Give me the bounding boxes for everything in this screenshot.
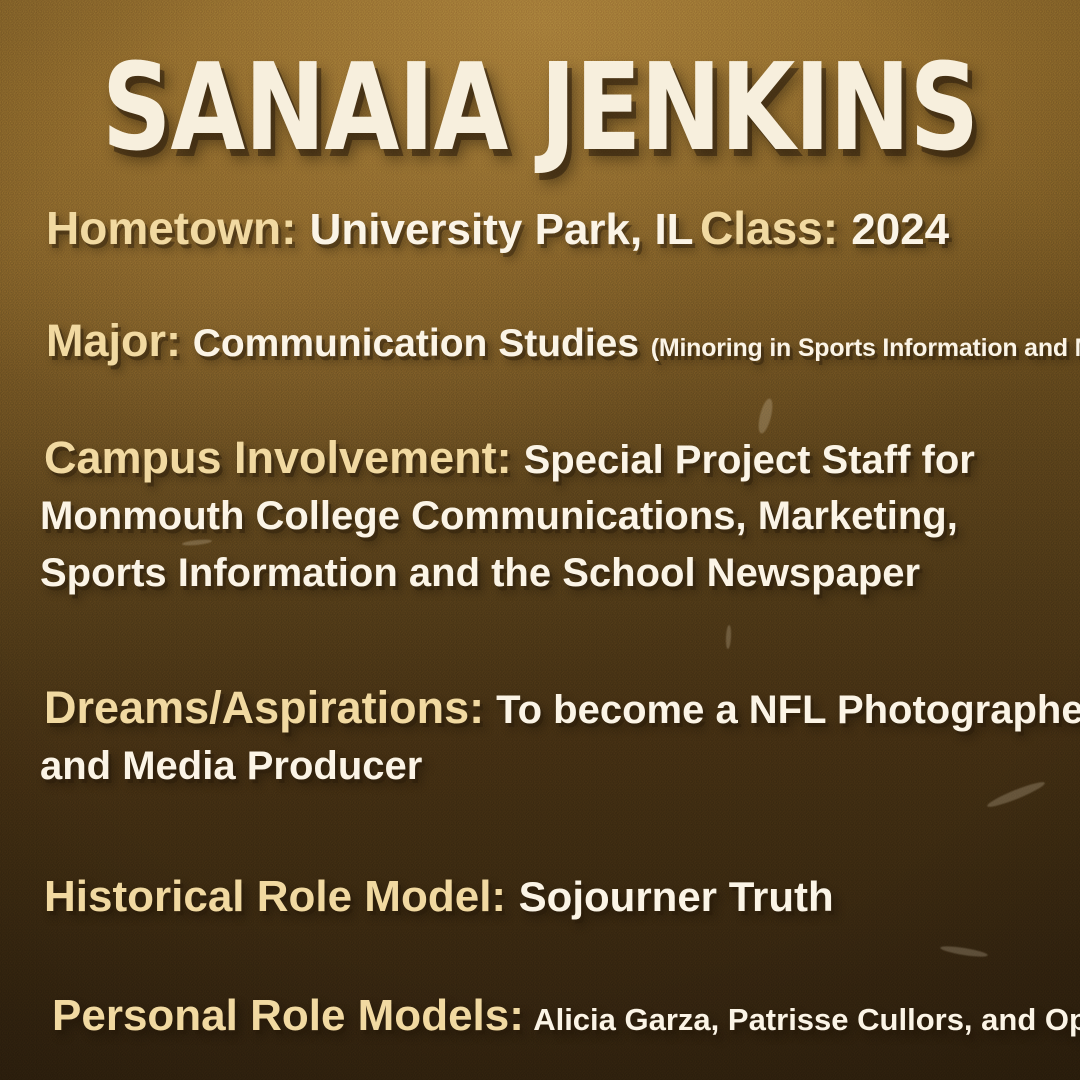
field-dreams-aspirations-value-line-2: and Media Producer: [40, 744, 422, 789]
field-campus-involvement-label: Campus Involvement:: [44, 432, 512, 483]
field-campus-involvement-value-line-1: Special Project Staff for: [524, 438, 975, 482]
field-personal-role-models-value: Alicia Garza, Patrisse Cullors, and Opal…: [533, 1002, 1080, 1037]
field-major-label: Major:: [46, 315, 181, 366]
field-historical-role-model-value: Sojourner Truth: [519, 873, 834, 920]
field-campus-involvement: Campus Involvement:Special Project Staff…: [44, 432, 975, 484]
field-personal-role-models-label: Personal Role Models:: [52, 991, 524, 1040]
field-dreams-aspirations: Dreams/Aspirations:To become a NFL Photo…: [44, 682, 1080, 734]
field-class: Class:2024: [700, 201, 949, 255]
field-historical-role-model: Historical Role Model:Sojourner Truth: [44, 872, 834, 922]
field-hometown-label: Hometown:: [46, 202, 296, 254]
field-hometown: Hometown:University Park, IL: [46, 201, 694, 255]
field-dreams-aspirations-value-line-1: To become a NFL Photographer: [496, 688, 1080, 732]
profile-card: SANAIA JENKINS Hometown:University Park,…: [0, 0, 1080, 1080]
field-major-note: (Minoring in Sports Information and Medi…: [651, 334, 1080, 362]
field-class-value: 2024: [851, 205, 949, 254]
field-class-label: Class:: [700, 202, 838, 254]
field-campus-involvement-value-line-3: Sports Information and the School Newspa…: [40, 551, 920, 596]
field-personal-role-models: Personal Role Models:Alicia Garza, Patri…: [52, 991, 1080, 1041]
field-major: Major:Communication Studies(Minoring in …: [46, 315, 1080, 367]
field-historical-role-model-label: Historical Role Model:: [44, 872, 506, 921]
field-campus-involvement-value-line-2: Monmouth College Communications, Marketi…: [40, 494, 958, 539]
field-dreams-aspirations-label: Dreams/Aspirations:: [44, 682, 484, 733]
field-major-value: Communication Studies: [193, 322, 639, 365]
profile-name-title: SANAIA JENKINS: [38, 47, 1042, 168]
field-hometown-value: University Park, IL: [310, 205, 694, 254]
